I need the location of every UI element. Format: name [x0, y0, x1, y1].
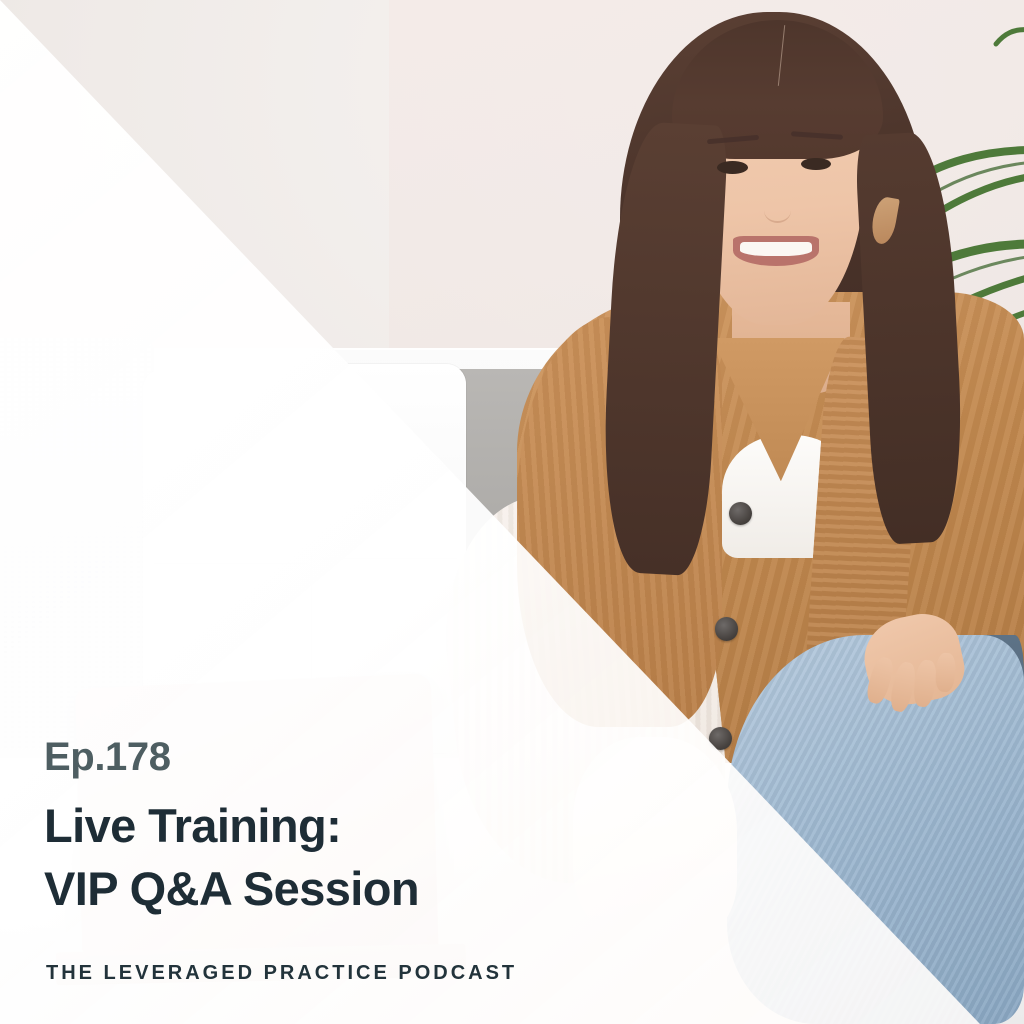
- title-line-2: VIP Q&A Session: [44, 858, 724, 921]
- cardigan-button: [715, 617, 738, 640]
- teeth: [740, 242, 812, 256]
- page-title: Live Training: VIP Q&A Session: [44, 795, 724, 921]
- podcast-episode-cover: Ep.178 Live Training: VIP Q&A Session TH…: [0, 0, 1024, 1024]
- title-line-1: Live Training:: [44, 795, 724, 858]
- show-name: THE LEVERAGED PRACTICE PODCAST: [46, 962, 517, 985]
- episode-number: Ep.178: [44, 736, 724, 779]
- episode-text-block: Ep.178 Live Training: VIP Q&A Session: [44, 736, 724, 921]
- eye-left: [717, 161, 748, 174]
- nose: [764, 199, 791, 224]
- cardigan-button: [729, 502, 752, 525]
